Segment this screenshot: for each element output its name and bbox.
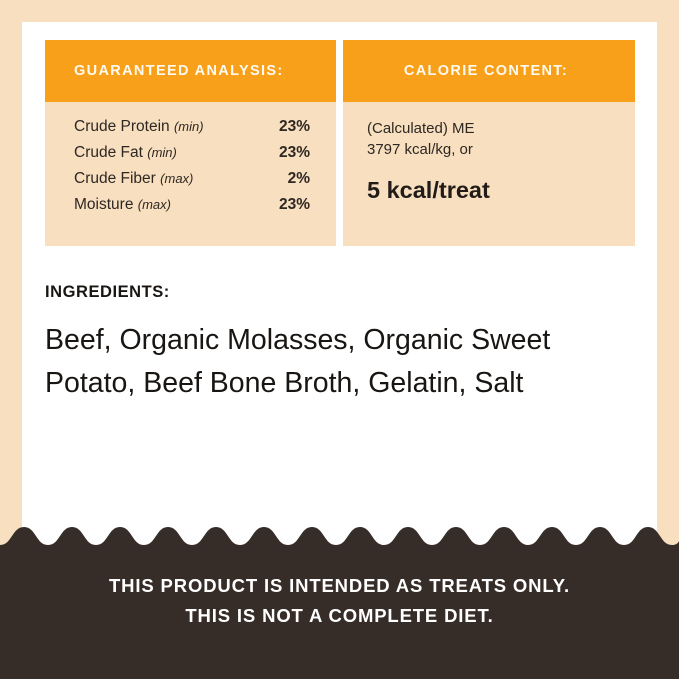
analysis-row-label: Crude Fat (min) — [74, 144, 279, 162]
ingredients-text: Beef, Organic Molasses, Organic Sweet Po… — [45, 319, 590, 405]
analysis-qualifier: (max) — [160, 171, 193, 186]
analysis-value: 2% — [288, 170, 310, 188]
ingredients-block: INGREDIENTS: Beef, Organic Molasses, Org… — [45, 283, 625, 405]
analysis-nutrient-name: Crude Protein — [74, 118, 170, 135]
calorie-per-kg-line: 3797 kcal/kg, or — [367, 139, 617, 160]
analysis-value: 23% — [279, 118, 310, 136]
footer-line-1: THIS PRODUCT IS INTENDED AS TREATS ONLY. — [0, 571, 679, 601]
analysis-nutrient-name: Moisture — [74, 196, 133, 213]
analysis-value: 23% — [279, 144, 310, 162]
calorie-content-title: CALORIE CONTENT: — [343, 40, 635, 102]
analysis-nutrient-name: Crude Fat — [74, 144, 143, 161]
analysis-qualifier: (max) — [138, 197, 171, 212]
analysis-qualifier: (min) — [147, 145, 177, 160]
nutrition-fact-boxes: GUARANTEED ANALYSIS: Crude Protein (min)… — [45, 40, 635, 246]
pet-food-label: GUARANTEED ANALYSIS: Crude Protein (min)… — [0, 0, 679, 679]
guaranteed-analysis-body: Crude Protein (min) 23% Crude Fat (min) … — [45, 102, 336, 246]
analysis-qualifier: (min) — [174, 119, 204, 134]
footer-line-2: THIS IS NOT A COMPLETE DIET. — [0, 601, 679, 631]
analysis-row: Crude Fiber (max) 2% — [74, 170, 310, 196]
disclaimer-footer: THIS PRODUCT IS INTENDED AS TREATS ONLY.… — [0, 519, 679, 679]
calorie-content-body: (Calculated) ME 3797 kcal/kg, or 5 kcal/… — [343, 102, 635, 246]
guaranteed-analysis-box: GUARANTEED ANALYSIS: Crude Protein (min)… — [45, 40, 336, 246]
calorie-content-box: CALORIE CONTENT: (Calculated) ME 3797 kc… — [343, 40, 635, 246]
analysis-value: 23% — [279, 196, 310, 214]
analysis-row: Moisture (max) 23% — [74, 196, 310, 222]
analysis-row: Crude Fat (min) 23% — [74, 144, 310, 170]
calorie-me-line: (Calculated) ME — [367, 118, 617, 139]
analysis-row-label: Crude Protein (min) — [74, 118, 279, 136]
footer-disclaimer-text: THIS PRODUCT IS INTENDED AS TREATS ONLY.… — [0, 571, 679, 631]
guaranteed-analysis-title: GUARANTEED ANALYSIS: — [45, 40, 336, 102]
ingredients-heading: INGREDIENTS: — [45, 283, 625, 302]
analysis-row-label: Crude Fiber (max) — [74, 170, 288, 188]
analysis-row: Crude Protein (min) 23% — [74, 118, 310, 144]
analysis-row-label: Moisture (max) — [74, 196, 279, 214]
analysis-nutrient-name: Crude Fiber — [74, 170, 156, 187]
calorie-per-treat-value: 5 kcal/treat — [367, 177, 617, 204]
